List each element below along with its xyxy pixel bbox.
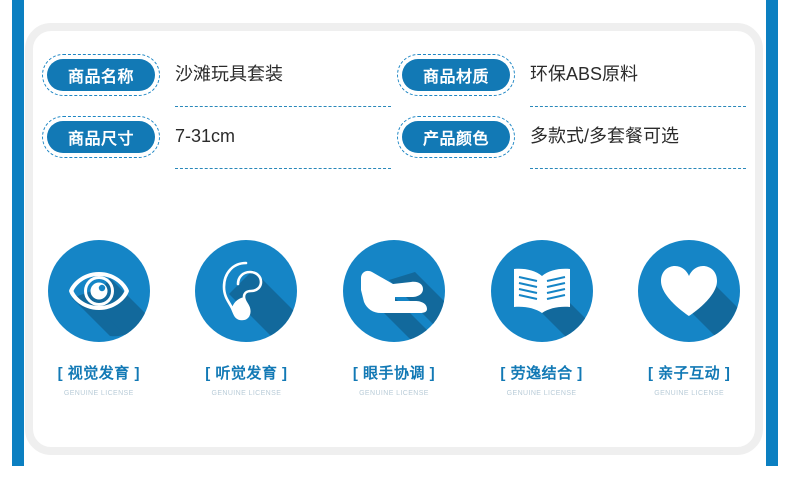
specification-grid: 商品名称 沙滩玩具套装 商品材质 环保ABS原料 商品尺寸 7-31cm 产品颜…	[0, 48, 790, 198]
eye-icon	[68, 270, 130, 312]
feature-label: [ 听觉发育 ]	[205, 362, 287, 383]
spec-label-pill-product-material: 商品材质	[397, 54, 515, 96]
spec-label-pill-product-name: 商品名称	[42, 54, 160, 96]
badge-circle	[195, 240, 297, 342]
spec-divider	[530, 168, 746, 169]
spec-row-product-material: 商品材质 环保ABS原料	[397, 48, 737, 110]
feature-sublabel: GENUINE LICENSE	[654, 390, 724, 397]
feature-badge-row: [ 视觉发育 ] GENUINE LICENSE [ 听觉发育 ] GENUIN…	[25, 240, 763, 397]
badge-circle	[491, 240, 593, 342]
book-icon	[511, 267, 573, 315]
spec-label-text: 商品名称	[47, 59, 155, 91]
badge-circle	[638, 240, 740, 342]
feature-item-visual-development: [ 视觉发育 ] GENUINE LICENSE	[34, 240, 164, 397]
hand-icon	[359, 268, 429, 314]
badge-circle	[48, 240, 150, 342]
feature-sublabel: GENUINE LICENSE	[507, 390, 577, 397]
feature-sublabel: GENUINE LICENSE	[359, 390, 429, 397]
spec-divider	[530, 106, 746, 107]
spec-row-product-size: 商品尺寸 7-31cm	[42, 110, 382, 172]
spec-divider	[175, 106, 391, 107]
feature-label: [ 亲子互动 ]	[648, 362, 730, 383]
spec-label-pill-product-color: 产品颜色	[397, 116, 515, 158]
feature-item-hand-eye-coordination: [ 眼手协调 ] GENUINE LICENSE	[329, 240, 459, 397]
feature-label: [ 视觉发育 ]	[58, 362, 140, 383]
feature-label: [ 劳逸结合 ]	[500, 362, 582, 383]
feature-label: [ 眼手协调 ]	[353, 362, 435, 383]
spec-value-product-name: 沙滩玩具套装	[175, 58, 283, 90]
spec-row-product-name: 商品名称 沙滩玩具套装	[42, 48, 382, 110]
spec-divider	[175, 168, 391, 169]
feature-item-auditory-development: [ 听觉发育 ] GENUINE LICENSE	[181, 240, 311, 397]
spec-row-product-color: 产品颜色 多款式/多套餐可选	[397, 110, 737, 172]
feature-item-work-rest-balance: [ 劳逸结合 ] GENUINE LICENSE	[477, 240, 607, 397]
feature-sublabel: GENUINE LICENSE	[64, 390, 134, 397]
spec-label-text: 商品尺寸	[47, 121, 155, 153]
feature-item-parent-child-interaction: [ 亲子互动 ] GENUINE LICENSE	[624, 240, 754, 397]
spec-value-product-material: 环保ABS原料	[530, 58, 638, 90]
spec-label-pill-product-size: 商品尺寸	[42, 116, 160, 158]
badge-circle	[343, 240, 445, 342]
spec-label-text: 商品材质	[402, 59, 510, 91]
ear-icon	[220, 260, 272, 322]
spec-value-product-size: 7-31cm	[175, 120, 235, 152]
feature-sublabel: GENUINE LICENSE	[211, 390, 281, 397]
spec-label-text: 产品颜色	[402, 121, 510, 153]
spec-value-product-color: 多款式/多套餐可选	[530, 120, 679, 152]
heart-icon	[659, 264, 719, 318]
